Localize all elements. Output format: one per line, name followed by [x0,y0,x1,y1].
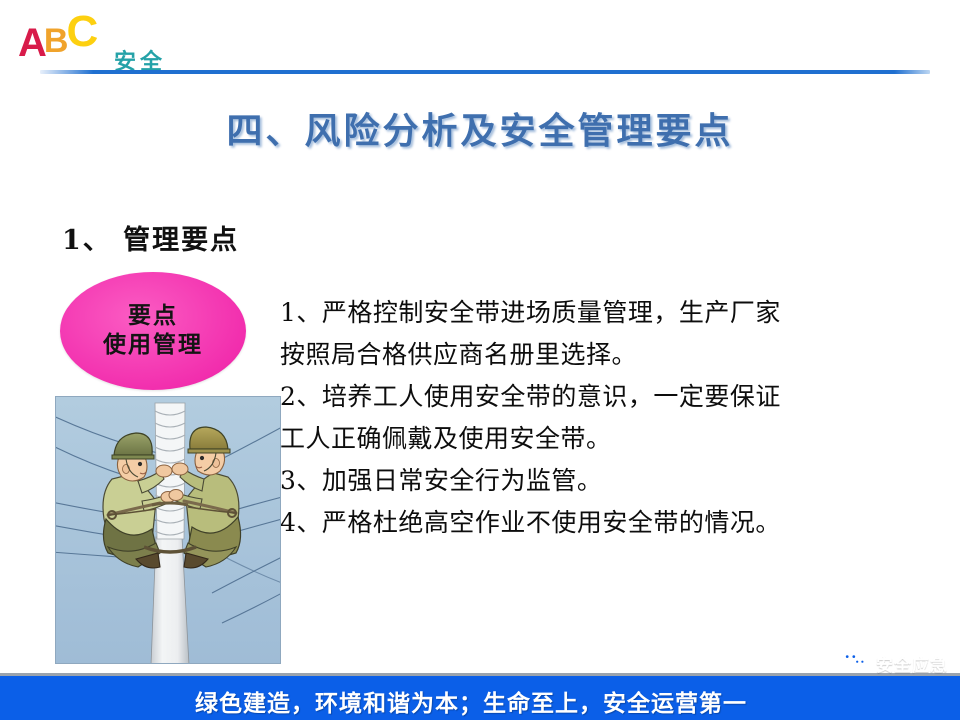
callout-line-1: 要点 [128,302,178,331]
footer-slogan: 绿色建造，环境和谐为本；生命至上，安全运营第一 [0,684,960,718]
keypoint-ellipse-callout: 要点 使用管理 [60,272,246,390]
body-line: 3、加强日常安全行为监管。 [280,460,914,502]
page-title: 四、风险分析及安全管理要点 [0,102,960,154]
callout-line-2: 使用管理 [103,331,203,360]
wechat-icon [839,649,869,678]
header-divider-rule [40,70,930,74]
section-heading: 1、 管理要点 [62,218,239,257]
utility-pole-workers-illustration [55,396,281,664]
body-text-block: 1、严格控制安全带进场质量管理，生产厂家 按照局合格供应商名册里选择。 2、培养… [280,292,914,544]
body-line: 4、严格杜绝高空作业不使用安全带的情况。 [280,502,914,544]
body-line: 1、严格控制安全带进场质量管理，生产厂家 [280,292,914,334]
logo-letter-a: A [18,21,46,65]
body-line: 2、培养工人使用安全带的意识，一定要保证 [280,376,914,418]
abc-letters: ABC [18,10,100,54]
logo-letter-c: C [66,7,97,56]
logo-letter-b: B [44,22,68,60]
wechat-watermark: 安全应急 [839,649,948,678]
body-line: 按照局合格供应商名册里选择。 [280,334,914,376]
brand-logo: ABC 安全 [18,10,218,72]
body-line: 工人正确佩戴及使用安全带。 [280,418,914,460]
wechat-account-label: 安全应急 [876,651,948,676]
footer-bar: 绿色建造，环境和谐为本；生命至上，安全运营第一 [0,673,960,720]
